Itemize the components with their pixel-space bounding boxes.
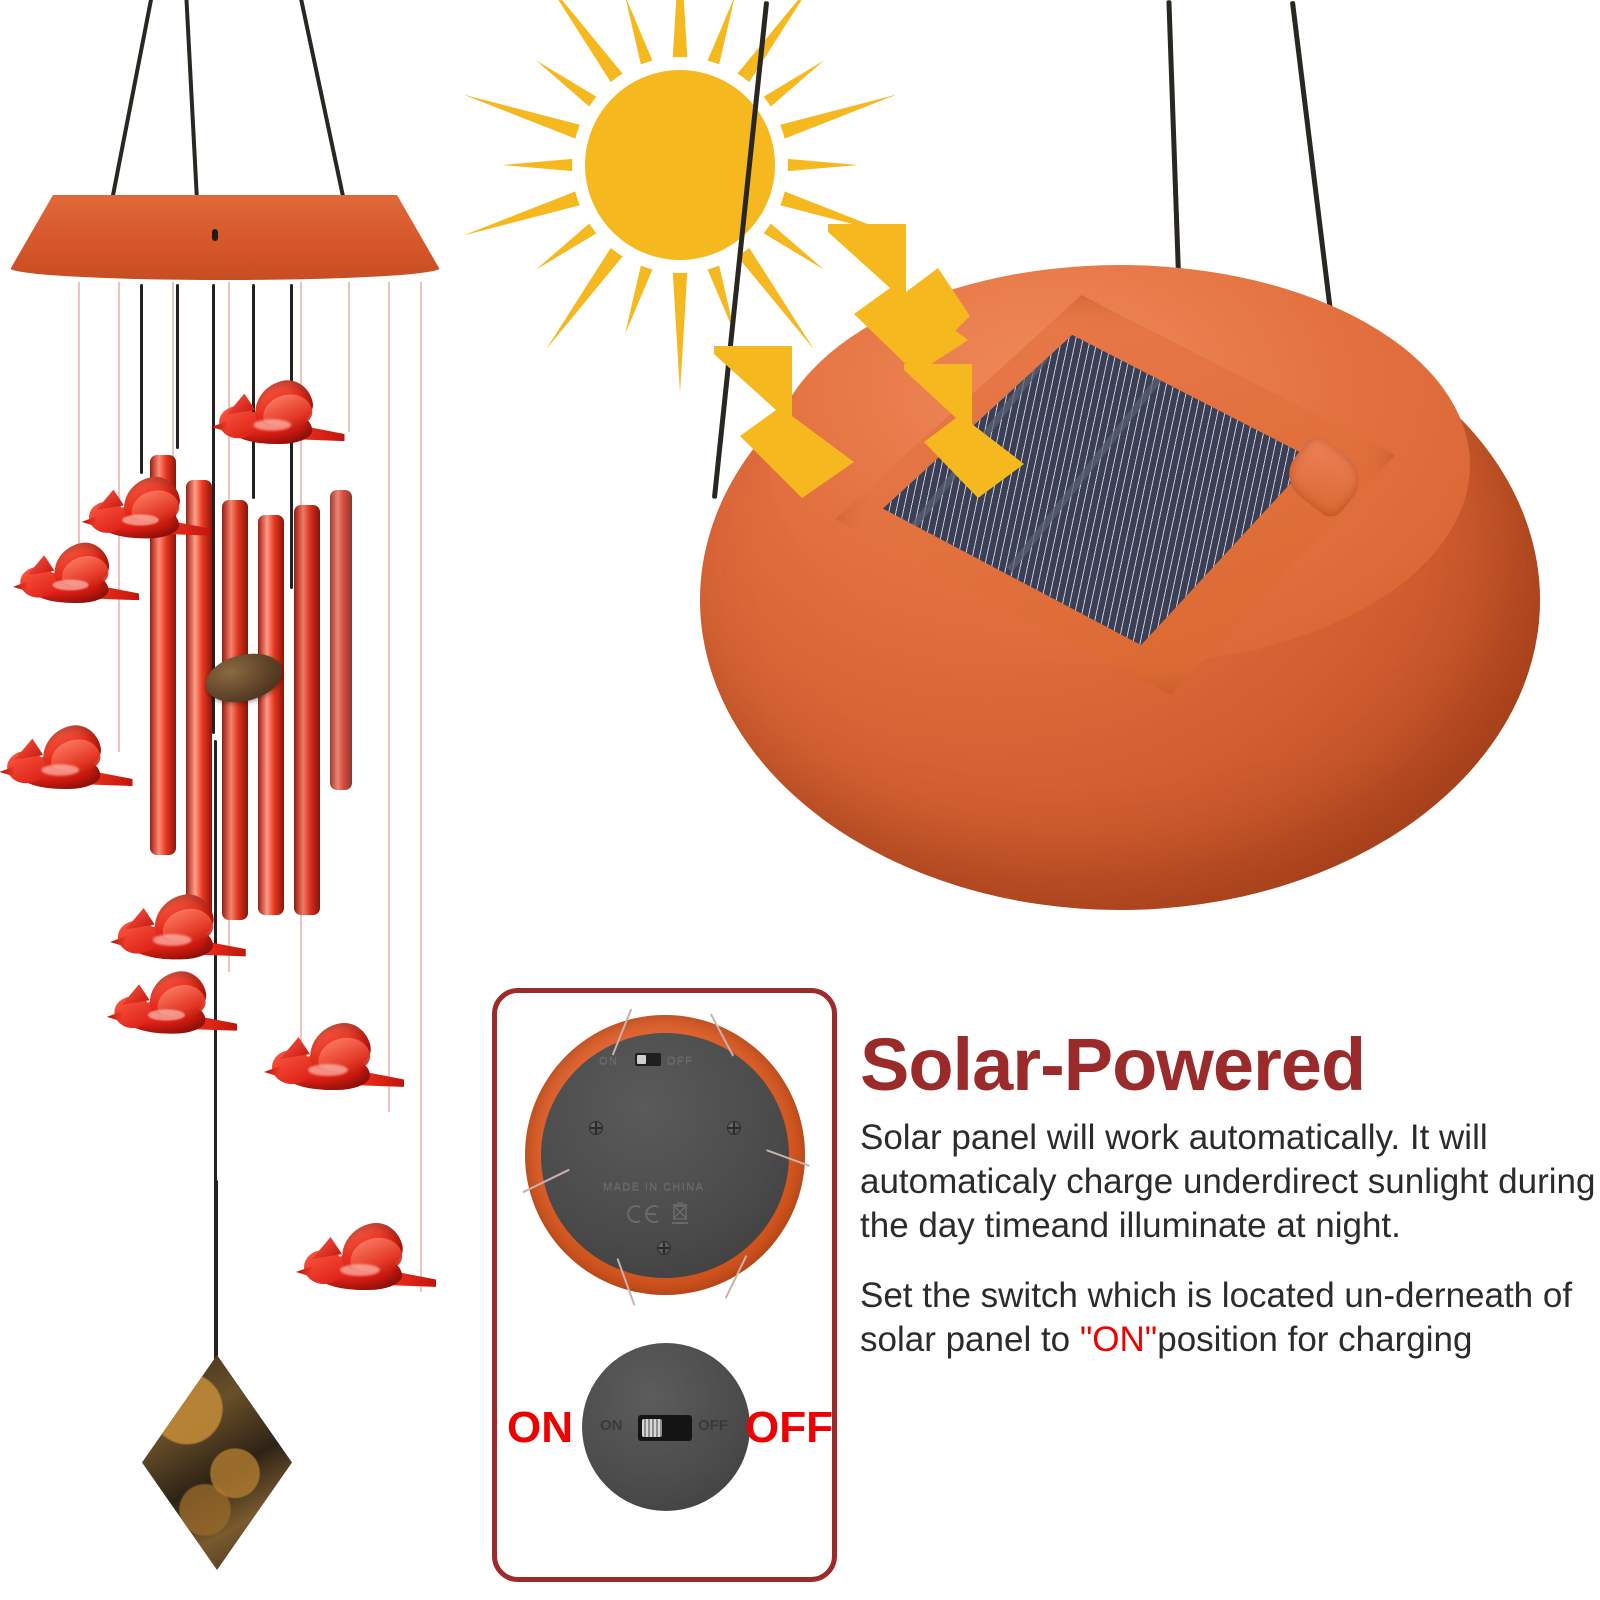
cardinal-bird bbox=[114, 901, 242, 979]
down-right-arrow-icon bbox=[708, 340, 888, 505]
toggle-switch-icon[interactable] bbox=[638, 1415, 692, 1441]
hanging-cord bbox=[184, 0, 200, 220]
cardinal-bird bbox=[300, 1230, 432, 1310]
dome-hanging-cord bbox=[1290, 1, 1335, 329]
weee-bin-icon bbox=[669, 1201, 691, 1227]
hanging-cord bbox=[110, 0, 155, 203]
switch-off-callout: OFF bbox=[745, 1403, 833, 1453]
switch-disc: ON OFF bbox=[582, 1343, 750, 1511]
cardinal-bird bbox=[215, 387, 340, 463]
disc-off-label: OFF bbox=[698, 1417, 728, 1434]
made-in-label: MADE IN CHINA bbox=[603, 1181, 704, 1193]
backplate-switch-off-label: OFF bbox=[667, 1055, 693, 1067]
tube-string bbox=[140, 284, 143, 474]
bird-thread bbox=[420, 282, 422, 1292]
solar-cap-underside: ON OFF MADE IN CHINA bbox=[525, 1015, 805, 1295]
chime-tube bbox=[222, 500, 248, 920]
chime-tube bbox=[258, 515, 284, 915]
diamond-wind-catcher bbox=[142, 1355, 292, 1570]
cardinal-bird bbox=[85, 483, 206, 557]
solar-panel-closeup bbox=[620, 190, 1600, 980]
paragraph-auto-charge: Solar panel will work automatically. It … bbox=[860, 1116, 1600, 1248]
disc-on-label: ON bbox=[600, 1417, 623, 1434]
down-right-arrow-icon bbox=[900, 360, 1050, 505]
switch-instruction-tail: position for charging bbox=[1157, 1320, 1472, 1359]
cardinal-bird bbox=[17, 549, 136, 621]
screw-icon bbox=[727, 1121, 741, 1135]
bird-thread bbox=[388, 282, 390, 1112]
tube-string bbox=[176, 284, 179, 449]
cardinal-bird bbox=[111, 978, 234, 1052]
cardinal-bird bbox=[3, 732, 128, 808]
product-infographic: ON OFF MADE IN CHINA bbox=[0, 0, 1600, 1600]
chime-tube bbox=[294, 505, 320, 915]
toggle-switch-icon[interactable] bbox=[635, 1053, 661, 1066]
on-quoted-label: "ON" bbox=[1080, 1320, 1157, 1359]
page-title: Solar-Powered bbox=[860, 1028, 1600, 1102]
hanging-cord bbox=[298, 0, 347, 203]
wire-hook bbox=[725, 1255, 748, 1299]
cardinal-bird bbox=[268, 1030, 400, 1110]
chime-top-cap bbox=[10, 195, 440, 280]
chime-tube bbox=[330, 490, 352, 790]
wind-chime-product-photo bbox=[0, 0, 470, 1600]
switch-on-callout: ON bbox=[507, 1403, 573, 1453]
backplate-switch-on-label: ON bbox=[599, 1055, 618, 1067]
diamond-string bbox=[215, 1180, 218, 1360]
ce-mark-icon bbox=[627, 1205, 661, 1223]
switch-detail-box: ON OFF MADE IN CHINA bbox=[492, 988, 837, 1582]
paragraph-switch-instruction: Set the switch which is located un-derne… bbox=[860, 1274, 1600, 1362]
screw-icon bbox=[657, 1241, 671, 1255]
underside-plate: ON OFF MADE IN CHINA bbox=[541, 1033, 789, 1278]
copy-block: Solar-Powered Solar panel will work auto… bbox=[860, 1028, 1600, 1388]
screw-icon bbox=[589, 1121, 603, 1135]
bird-thread bbox=[348, 282, 350, 432]
